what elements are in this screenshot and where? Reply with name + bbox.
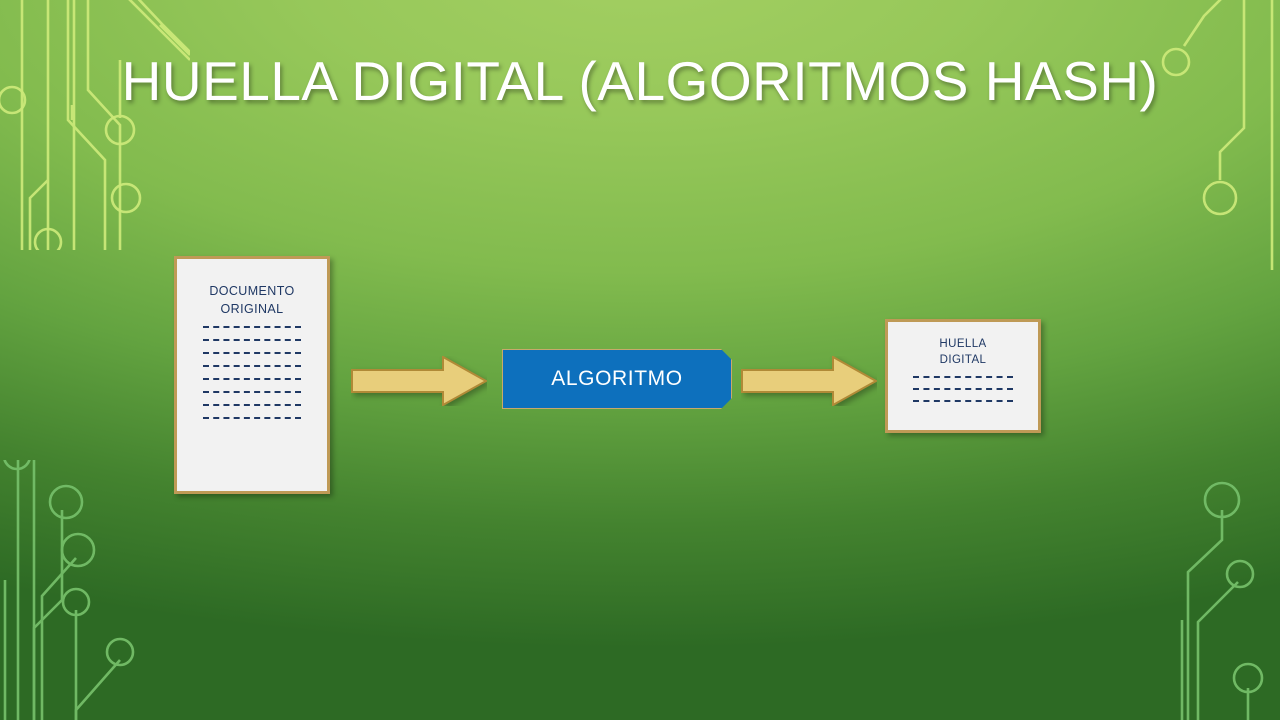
document-huella-label: HUELLA DIGITAL — [888, 336, 1038, 369]
document-huella-shape[interactable]: HUELLA DIGITAL — [885, 319, 1041, 433]
arrow-algoritmo-to-huella[interactable] — [741, 356, 877, 406]
document-original-shape[interactable]: DOCUMENTO ORIGINAL — [174, 256, 330, 494]
circuit-decoration-top-left — [0, 0, 190, 250]
document-line — [203, 417, 301, 419]
document-line — [913, 376, 1013, 378]
document-line — [203, 378, 301, 380]
document-line — [203, 391, 301, 393]
circuit-decoration-bottom-right — [1160, 460, 1280, 720]
circuit-decoration-bottom-left — [0, 460, 200, 720]
document-line — [913, 388, 1013, 390]
document-huella-lines — [888, 376, 1038, 402]
arrow-documento-to-algoritmo[interactable] — [351, 356, 487, 406]
slide-title: HUELLA DIGITAL (ALGORITMOS HASH) — [110, 52, 1170, 110]
document-line — [203, 404, 301, 406]
document-original-lines — [177, 326, 327, 419]
algoritmo-label: ALGORITMO — [551, 367, 682, 391]
document-line — [203, 339, 301, 341]
circuit-decoration-top-right — [1160, 0, 1280, 270]
algoritmo-process-shape[interactable]: ALGORITMO — [502, 349, 732, 409]
slide-canvas: HUELLA DIGITAL (ALGORITMOS HASH) DOCUMEN… — [0, 0, 1280, 720]
document-line — [203, 352, 301, 354]
document-original-label: DOCUMENTO ORIGINAL — [177, 283, 327, 319]
document-line — [203, 326, 301, 328]
document-line — [913, 400, 1013, 402]
document-line — [203, 365, 301, 367]
